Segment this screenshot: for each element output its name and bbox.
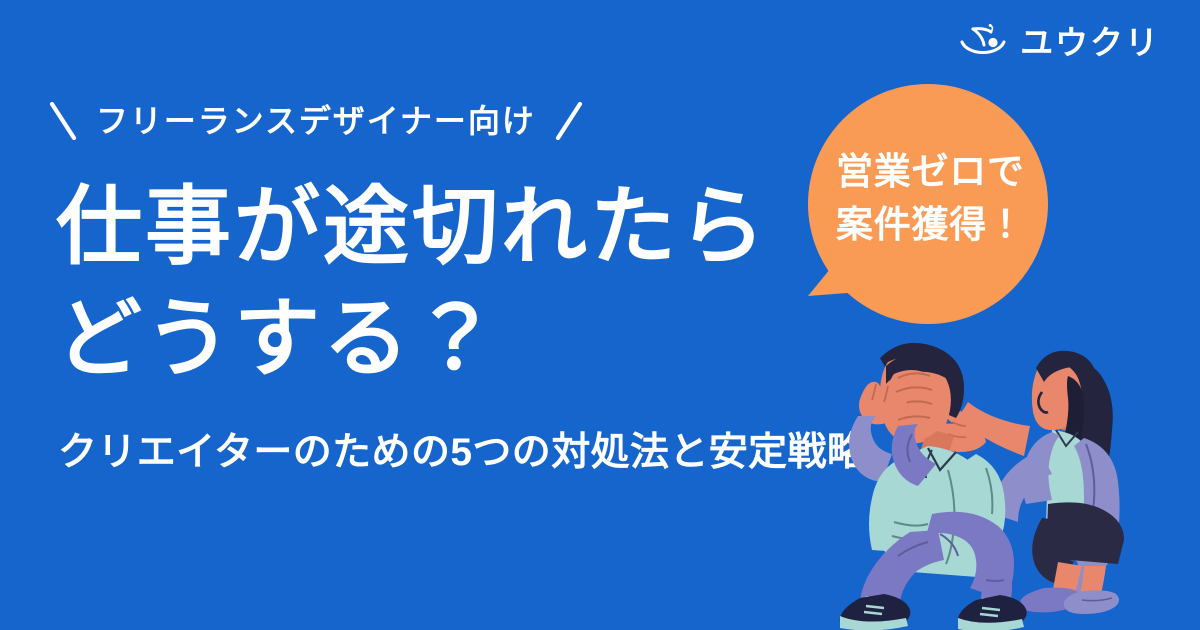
page-title: 仕事が途切れたら どうする？ bbox=[56, 172, 768, 396]
speech-bubble-line-1: 営業ゼロで bbox=[800, 146, 1060, 199]
speech-bubble-text: 営業ゼロで 案件獲得！ bbox=[800, 146, 1060, 251]
speech-bubble-line-2: 案件獲得！ bbox=[800, 199, 1060, 252]
kicker-label: フリーランスデザイナー向け bbox=[96, 105, 536, 137]
yukuri-smile-mark-icon bbox=[960, 22, 1006, 62]
eyecatch-banner: ユウクリ フリーランスデザイナー向け 仕事が途切れたら どうする？ クリエイター… bbox=[0, 0, 1200, 630]
two-seated-people-consoling-illustration-icon bbox=[836, 318, 1166, 630]
page-subtitle: クリエイターのための5つの対処法と安定戦略 bbox=[58, 430, 866, 477]
headline-line-1: 仕事が途切れたら bbox=[56, 172, 768, 284]
illustration bbox=[836, 318, 1166, 630]
speech-bubble: 営業ゼロで 案件獲得！ bbox=[800, 84, 1060, 334]
slash-left-icon bbox=[48, 99, 78, 143]
slash-right-icon bbox=[554, 99, 584, 143]
brand-logo-text: ユウクリ bbox=[1020, 26, 1160, 59]
headline-line-2: どうする？ bbox=[56, 284, 768, 396]
brand-logo[interactable]: ユウクリ bbox=[960, 22, 1160, 62]
kicker: フリーランスデザイナー向け bbox=[48, 99, 584, 143]
